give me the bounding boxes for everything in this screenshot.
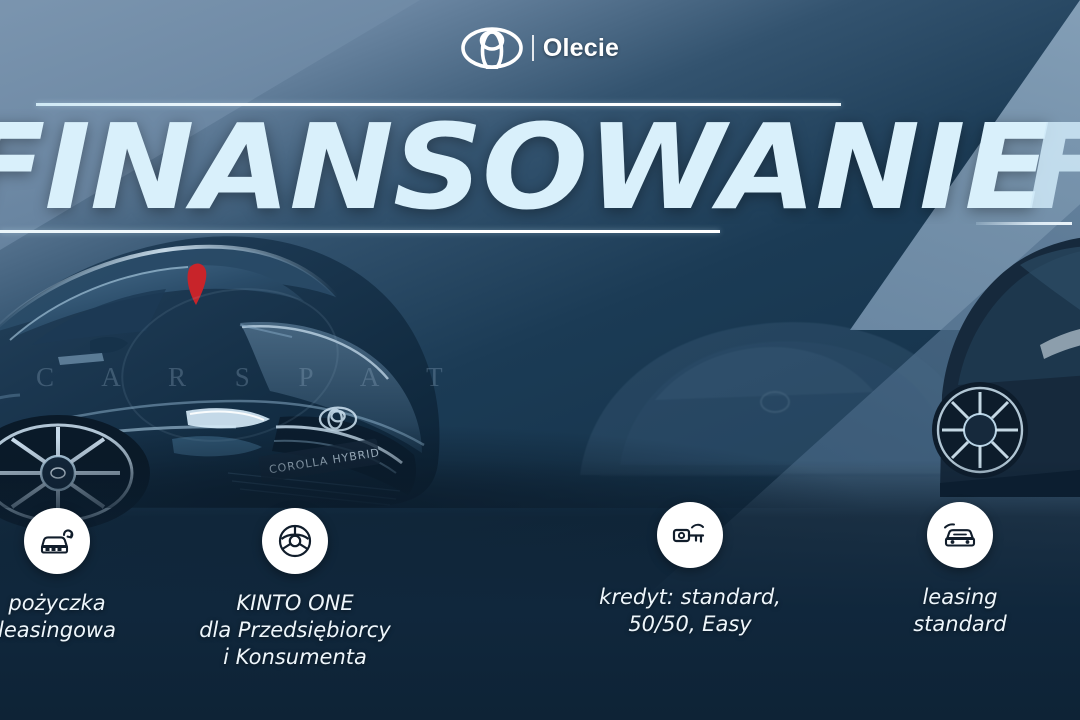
- car-key-icon: [657, 502, 723, 568]
- car-front-icon: [927, 502, 993, 568]
- feature-label: pożyczka leasingowa: [0, 590, 116, 644]
- feature-label: leasing standard: [913, 584, 1007, 638]
- feature-item-pozyczka-leasingowa[interactable]: pożyczka leasingowa: [0, 508, 172, 644]
- page-title-overflow: F: [1027, 104, 1080, 224]
- promo-banner: COROLLA HYBRID: [0, 0, 1080, 720]
- feature-row: pożyczka leasingowa KINTO ONE dla Przeds…: [0, 500, 1080, 720]
- feature-item-kredyt[interactable]: kredyt: standard, 50/50, Easy: [575, 502, 805, 638]
- feature-label: kredyt: standard, 50/50, Easy: [599, 584, 781, 638]
- page-title: FINANSOWANIE: [0, 104, 1049, 224]
- feature-item-kinto-one[interactable]: KINTO ONE dla Przedsiębiorcy i Konsument…: [180, 508, 410, 671]
- headline-container: FINANSOWANIE F: [0, 104, 1080, 224]
- car-loan-icon: [24, 508, 90, 574]
- toyota-logo-icon: [461, 27, 523, 69]
- feature-item-overflow[interactable]: lea: [1035, 502, 1080, 611]
- steering-wheel-icon: [262, 508, 328, 574]
- brand-header: Olecie: [0, 24, 1080, 72]
- feature-label: KINTO ONE dla Przedsiębiorcy i Konsument…: [199, 590, 391, 671]
- brand-separator: [532, 35, 534, 61]
- brand-name: Olecie: [543, 34, 619, 63]
- divider-bottom: [0, 230, 720, 233]
